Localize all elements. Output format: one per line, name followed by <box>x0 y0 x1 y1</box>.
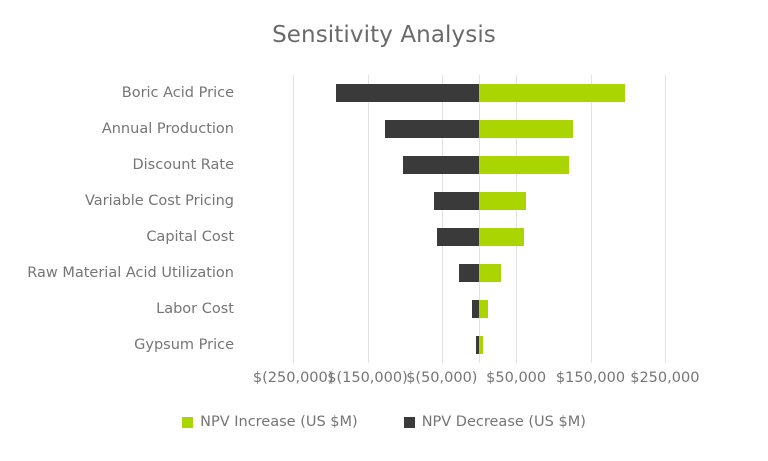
bar-segment-increase <box>479 300 488 318</box>
bar-segment-increase <box>479 264 501 282</box>
bar-segment-decrease <box>472 300 479 318</box>
bar-segment-decrease <box>437 228 479 246</box>
category-label: Variable Cost Pricing <box>0 193 234 209</box>
chart-legend: NPV Increase (US $M)NPV Decrease (US $M) <box>0 414 768 430</box>
bar-segment-decrease <box>459 264 479 282</box>
bar-segment-increase <box>479 120 573 138</box>
category-label: Raw Material Acid Utilization <box>0 265 234 281</box>
legend-item[interactable]: NPV Decrease (US $M) <box>404 414 586 430</box>
x-axis-tick-label: $50,000 <box>486 370 546 386</box>
category-label: Boric Acid Price <box>0 85 234 101</box>
bar-row <box>256 291 702 327</box>
x-axis-tick-label: $150,000 <box>556 370 625 386</box>
x-axis-tick-label: $(250,000) <box>253 370 334 386</box>
bar-segment-increase <box>479 228 524 246</box>
bar-segment-decrease <box>434 192 479 210</box>
bar-segment-increase <box>479 156 569 174</box>
category-axis-labels: Boric Acid PriceAnnual ProductionDiscoun… <box>0 75 246 363</box>
bar-segment-decrease <box>385 120 479 138</box>
x-axis-tick-label: $(150,000) <box>327 370 408 386</box>
bar-segment-increase <box>479 192 526 210</box>
bar-segment-increase <box>479 84 625 102</box>
category-label: Labor Cost <box>0 301 234 317</box>
bar-row <box>256 219 702 255</box>
bar-row <box>256 75 702 111</box>
category-label: Annual Production <box>0 121 234 137</box>
bar-row <box>256 183 702 219</box>
bar-rows <box>256 75 702 363</box>
legend-swatch-icon <box>182 417 193 428</box>
bar-row <box>256 111 702 147</box>
x-axis-tick-labels: $(250,000)$(150,000)$(50,000)$50,000$150… <box>0 370 768 392</box>
bar-row <box>256 327 702 363</box>
plot-area <box>256 75 702 363</box>
legend-label: NPV Increase (US $M) <box>200 414 358 430</box>
bar-segment-decrease <box>336 84 479 102</box>
chart-title: Sensitivity Analysis <box>0 22 768 48</box>
x-axis-tick-label: $(50,000) <box>406 370 477 386</box>
bar-row <box>256 147 702 183</box>
category-label: Gypsum Price <box>0 337 234 353</box>
category-label: Discount Rate <box>0 157 234 173</box>
category-label: Capital Cost <box>0 229 234 245</box>
bar-segment-decrease <box>403 156 479 174</box>
x-axis-tick-label: $250,000 <box>630 370 699 386</box>
legend-label: NPV Decrease (US $M) <box>422 414 586 430</box>
bar-row <box>256 255 702 291</box>
legend-swatch-icon <box>404 417 415 428</box>
sensitivity-analysis-chart: Sensitivity Analysis Boric Acid PriceAnn… <box>0 0 768 461</box>
legend-item[interactable]: NPV Increase (US $M) <box>182 414 358 430</box>
bar-segment-increase <box>479 336 483 354</box>
